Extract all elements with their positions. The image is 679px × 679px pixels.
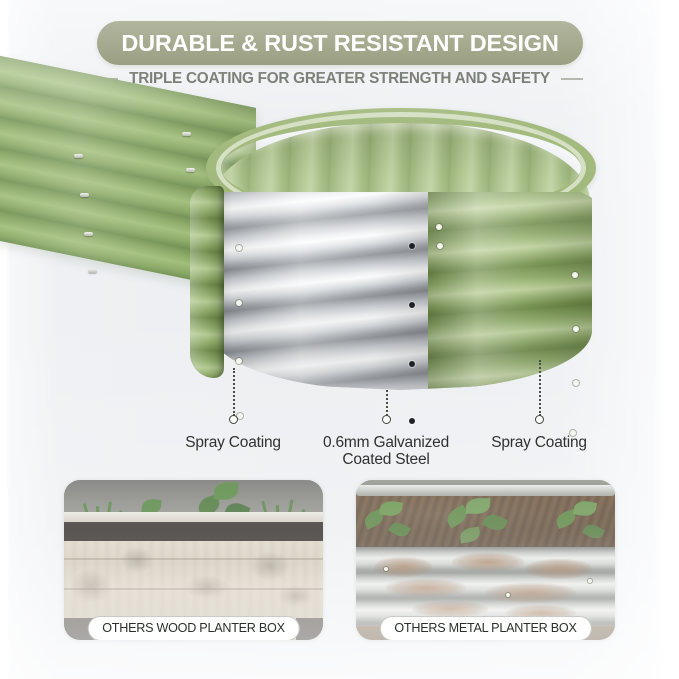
callout-label-right: Spray Coating bbox=[459, 434, 619, 451]
header-banner: DURABLE & RUST RESISTANT DESIGN bbox=[97, 21, 583, 65]
rivet bbox=[236, 300, 242, 306]
rivet bbox=[409, 302, 415, 308]
plant bbox=[552, 496, 608, 546]
page-title: DURABLE & RUST RESISTANT DESIGN bbox=[121, 30, 558, 57]
rivet bbox=[436, 224, 442, 230]
wood-stain bbox=[250, 551, 290, 581]
product-illustration bbox=[0, 100, 679, 410]
wood-stain bbox=[70, 569, 112, 603]
rivet bbox=[409, 361, 415, 367]
divider-dash-right bbox=[561, 78, 583, 80]
spray-coating-section-right bbox=[428, 190, 592, 390]
caption-wood-planter: OTHERS WOOD PLANTER BOX bbox=[87, 616, 299, 640]
page-subtitle: TRIPLE COATING FOR GREATER STRENGTH AND … bbox=[129, 70, 550, 88]
rust-stain bbox=[386, 579, 466, 597]
plant bbox=[362, 498, 414, 544]
garden-bed-body bbox=[196, 152, 600, 397]
rivet bbox=[437, 243, 443, 249]
panel-screw bbox=[74, 154, 83, 158]
spray-coating-section-left bbox=[190, 186, 224, 378]
callout-left-line1: Spray Coating bbox=[153, 434, 313, 451]
comparison-card-metal: OTHERS METAL PLANTER BOX bbox=[356, 480, 615, 640]
plant bbox=[442, 492, 512, 548]
basil-leaf bbox=[213, 481, 238, 501]
wood-stain bbox=[120, 547, 154, 573]
rivet bbox=[236, 358, 242, 364]
rivet bbox=[573, 380, 579, 386]
leaf bbox=[388, 519, 411, 540]
rivet bbox=[237, 413, 243, 419]
callout-center-line2: Coated Steel bbox=[302, 451, 470, 468]
rivet bbox=[236, 245, 242, 251]
rivet bbox=[588, 579, 592, 583]
panel-screw bbox=[84, 232, 93, 236]
leaf bbox=[582, 521, 605, 542]
planter-top-rail bbox=[64, 512, 323, 522]
rivet bbox=[573, 326, 579, 332]
rivet bbox=[409, 418, 415, 424]
galvanized-steel-section bbox=[210, 190, 428, 390]
leaf bbox=[379, 500, 403, 518]
wood-stain bbox=[278, 585, 314, 607]
rust-stain bbox=[486, 583, 576, 603]
rust-stain bbox=[452, 553, 524, 571]
panel-screw bbox=[88, 269, 97, 273]
comparison-card-wood: OTHERS WOOD PLANTER BOX bbox=[64, 480, 323, 640]
bed-front-wall bbox=[210, 190, 592, 390]
callout-label-left: Spray Coating bbox=[153, 434, 313, 451]
leaf bbox=[482, 511, 508, 534]
wood-stain bbox=[184, 575, 230, 599]
infographic-page: DURABLE & RUST RESISTANT DESIGN TRIPLE C… bbox=[0, 0, 679, 679]
rivet bbox=[572, 272, 578, 278]
leader-dot-center bbox=[382, 415, 391, 424]
caption-metal-planter: OTHERS METAL PLANTER BOX bbox=[379, 616, 591, 640]
rivet bbox=[570, 430, 576, 436]
rust-stain bbox=[526, 559, 592, 579]
callout-right-line1: Spray Coating bbox=[459, 434, 619, 451]
wood-front-boards bbox=[64, 541, 323, 618]
leaf bbox=[573, 499, 597, 518]
leader-dot-right bbox=[535, 415, 544, 424]
rust-stain bbox=[374, 557, 432, 577]
callout-label-center: 0.6mm Galvanized Coated Steel bbox=[302, 434, 470, 468]
panel-screw bbox=[186, 168, 195, 172]
planter-top-rail bbox=[356, 485, 615, 496]
leaf bbox=[466, 498, 491, 515]
rust-stain bbox=[412, 601, 488, 617]
callout-center-line1: 0.6mm Galvanized bbox=[302, 434, 470, 451]
leaf bbox=[459, 527, 481, 544]
rivet bbox=[409, 243, 415, 249]
panel-screw bbox=[182, 132, 191, 136]
panel-screw bbox=[80, 193, 89, 197]
